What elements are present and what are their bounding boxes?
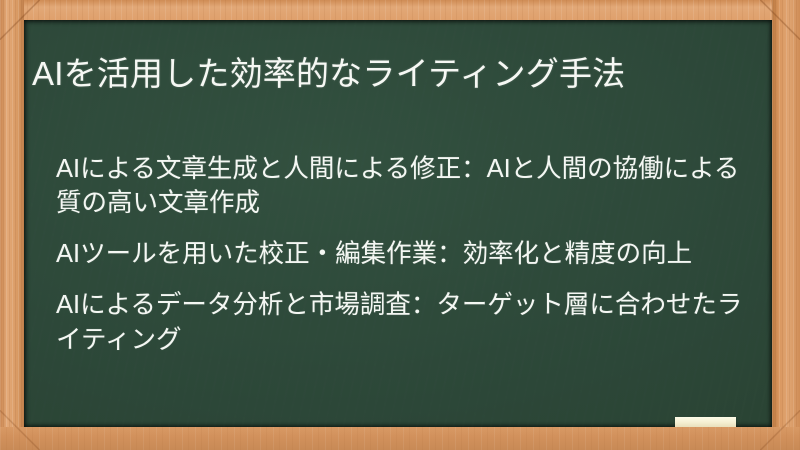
frame-right-rail — [772, 0, 800, 450]
frame-bottom-rail — [0, 427, 800, 450]
chalkboard-slide: AIを活用した効率的なライティング手法 AIによる文章生成と人間による修正：AI… — [0, 0, 800, 450]
frame-left-rail — [0, 0, 24, 450]
bullet-list: AIによる文章生成と人間による修正：AIと人間の協働による質の高い文章作成 AI… — [56, 152, 756, 357]
bullet-item: AIツールを用いた校正・編集作業：効率化と精度の向上 — [56, 237, 756, 271]
blackboard-surface: AIを活用した効率的なライティング手法 AIによる文章生成と人間による修正：AI… — [24, 20, 772, 427]
slide-title: AIを活用した効率的なライティング手法 — [32, 53, 772, 96]
chalk-stick-icon — [675, 417, 736, 427]
bullet-item: AIによる文章生成と人間による修正：AIと人間の協働による質の高い文章作成 — [56, 152, 756, 220]
bullet-item: AIによるデータ分析と市場調査：ターゲット層に合わせたライティング — [56, 288, 756, 356]
frame-top-rail — [0, 0, 800, 20]
